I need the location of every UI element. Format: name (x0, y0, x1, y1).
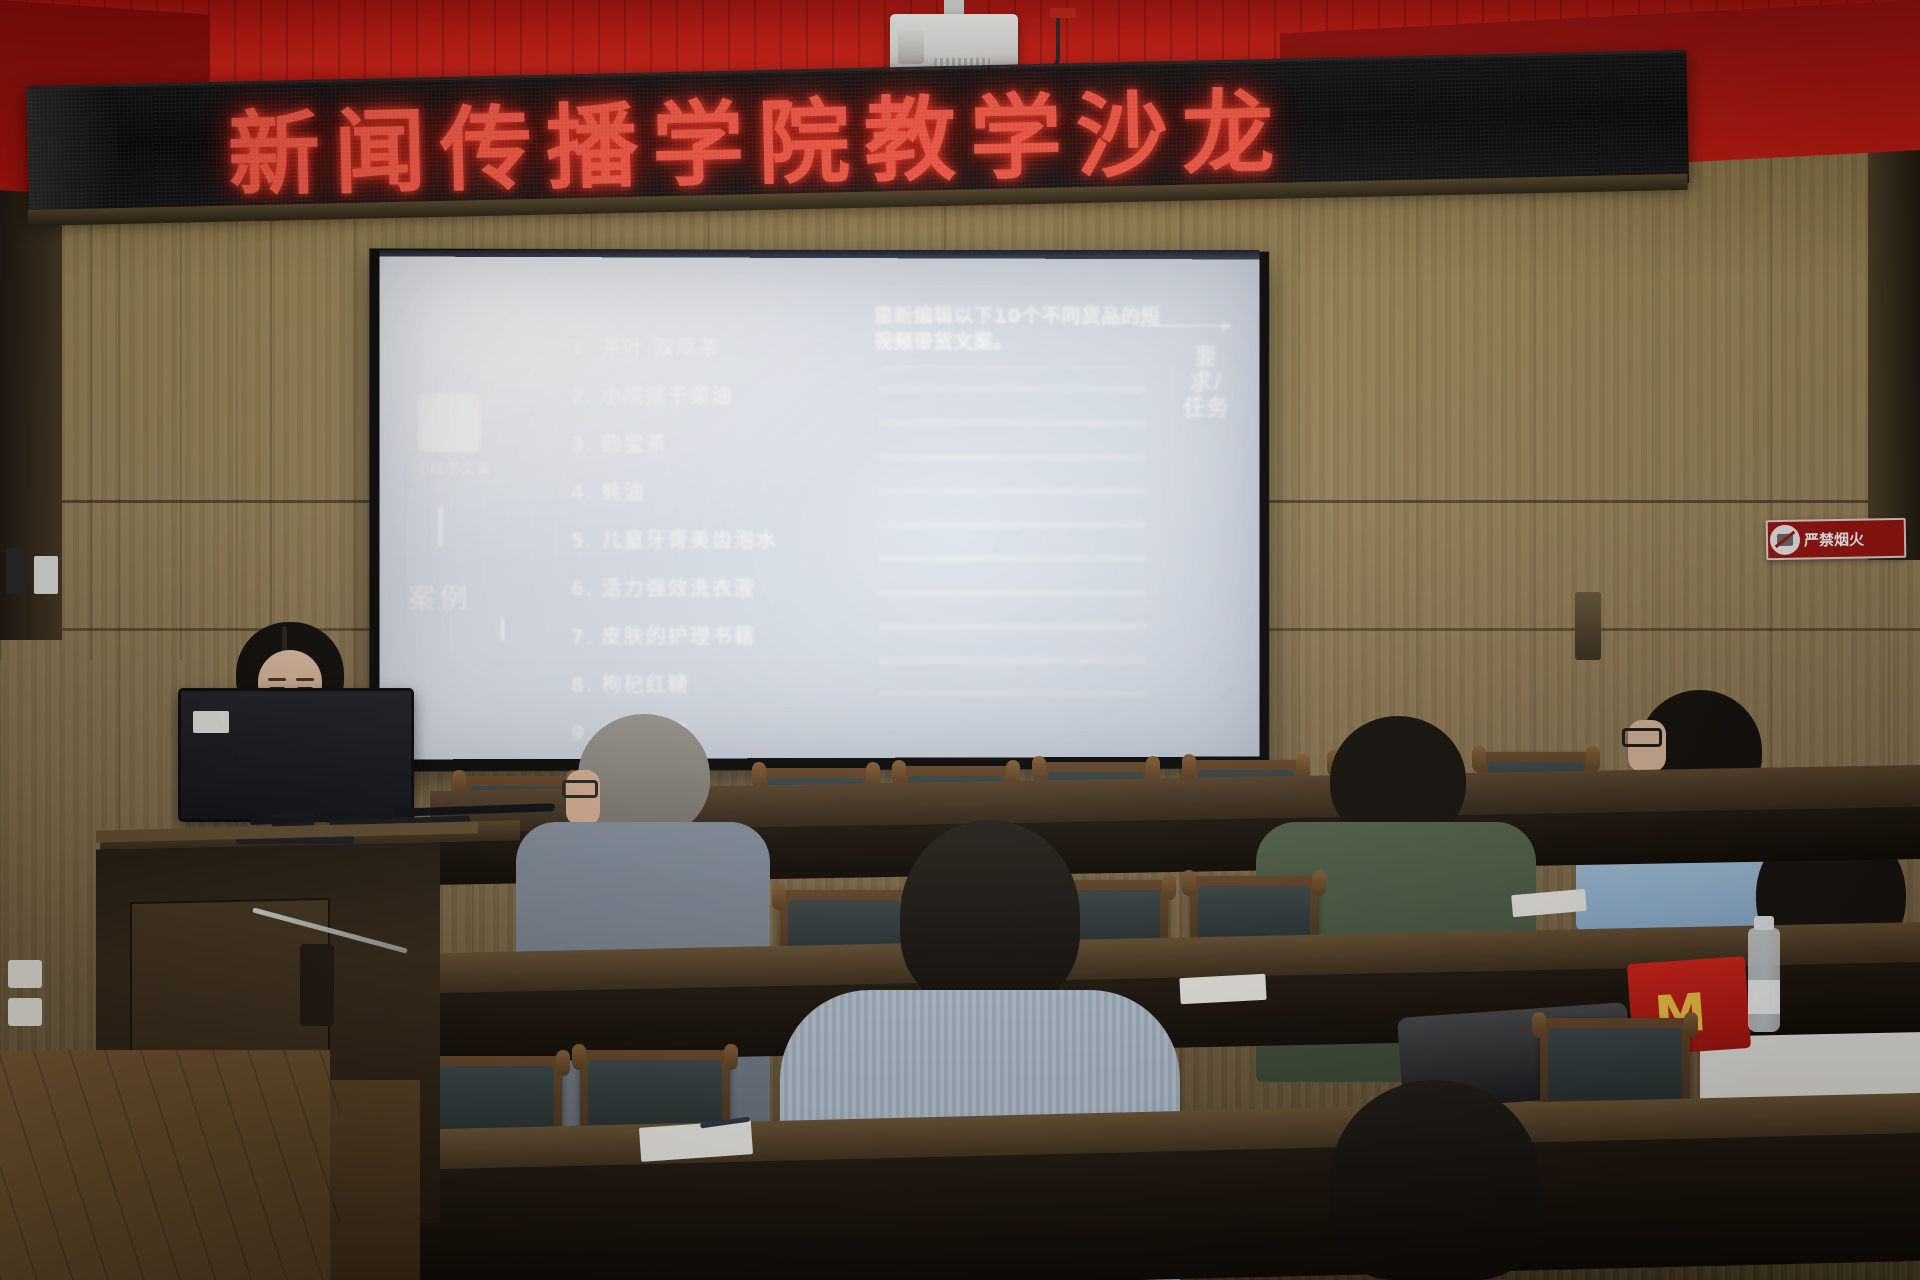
wall-power-socket-upper[interactable] (8, 960, 42, 988)
no-smoking-label: 严禁烟火 (1804, 528, 1864, 550)
glasses-icon (562, 780, 598, 798)
chair-pad (1548, 1028, 1682, 1100)
glasses-icon (1622, 728, 1662, 747)
projection-screen: 1.茶叶 双瓜茶 2.小院摇干菜油 3.四宝茶 4.蚝油 5.儿童牙膏美齿泡水 … (379, 256, 1259, 759)
chair-arm-left (1032, 756, 1046, 782)
microphone-base (300, 944, 334, 1026)
chair-arm-left (752, 762, 766, 788)
chair-arm-left (772, 884, 786, 910)
chair-arm-right (556, 1050, 570, 1076)
wall-sensor-device (6, 548, 24, 594)
presenter-eyebrow-left (268, 678, 286, 681)
presenter-eyebrow-right (296, 678, 314, 681)
floor-plank-lines (0, 1050, 340, 1280)
wall-switch-plate[interactable] (34, 556, 58, 594)
paper-handout (1179, 974, 1266, 1004)
led-banner-left-frame (27, 87, 120, 215)
chair-arm-left (1182, 870, 1196, 896)
bottle-label (1748, 980, 1780, 1014)
chair-arm-left (1472, 746, 1486, 772)
screen-vignette (379, 256, 1259, 759)
chair-arm-left (1182, 754, 1196, 780)
chair-arm-right (1162, 874, 1176, 900)
computer-monitor[interactable] (178, 688, 414, 822)
chair-empty[interactable] (1540, 1018, 1690, 1108)
chair-arm-right (1586, 746, 1600, 772)
chair-arm-right (1684, 1012, 1698, 1038)
lecture-hall-photo: 新闻传播学院教学沙龙 1.茶叶 双瓜茶 2.小院摇干菜油 3.四宝茶 4.蚝油 … (0, 0, 1920, 1280)
chair-arm-left (572, 1044, 586, 1070)
person-face (566, 770, 600, 826)
water-bottle (1748, 928, 1780, 1032)
chair-arm-right (724, 1044, 738, 1070)
no-smoking-icon (1770, 525, 1801, 556)
projector-lens-icon (898, 30, 924, 64)
wall-power-socket-lower[interactable] (8, 998, 42, 1026)
person-head (900, 820, 1080, 1010)
person-head (1330, 1080, 1540, 1280)
bottle-cap (1754, 916, 1774, 930)
wall-lamp-fixture (1575, 592, 1601, 660)
no-smoking-sign: 严禁烟火 (1766, 518, 1907, 560)
chair-arm-left (1532, 1012, 1546, 1038)
monitor-sticker (193, 711, 229, 733)
chair-pad (588, 1060, 722, 1132)
chair-arm-right (1312, 870, 1326, 896)
projector-indicator (1050, 8, 1076, 18)
